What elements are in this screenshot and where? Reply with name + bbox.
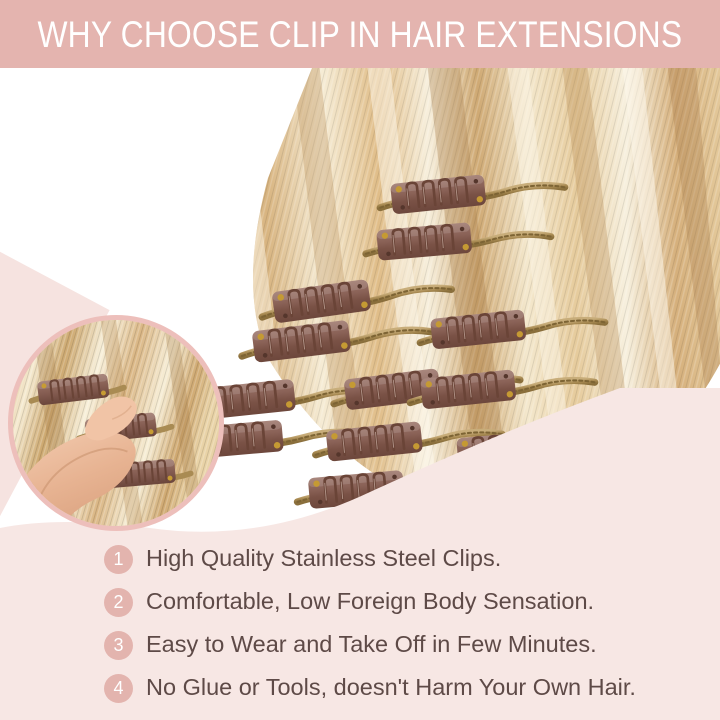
list-item: 3 Easy to Wear and Take Off in Few Minut… bbox=[104, 624, 597, 666]
infographic-canvas: WHY CHOOSE CLIP IN HAIR EXTENSIONS 1 Hig… bbox=[0, 0, 720, 720]
page-title: WHY CHOOSE CLIP IN HAIR EXTENSIONS bbox=[38, 16, 683, 53]
number-badge: 4 bbox=[104, 674, 133, 703]
list-item: 1 High Quality Stainless Steel Clips. bbox=[104, 538, 501, 580]
circle-inset-photo bbox=[8, 315, 224, 531]
feature-text: Comfortable, Low Foreign Body Sensation. bbox=[146, 589, 594, 615]
feature-text: High Quality Stainless Steel Clips. bbox=[146, 546, 501, 572]
feature-list: 1 High Quality Stainless Steel Clips. 2 … bbox=[0, 536, 720, 720]
feature-text: No Glue or Tools, doesn't Harm Your Own … bbox=[146, 675, 636, 701]
feature-text: Easy to Wear and Take Off in Few Minutes… bbox=[146, 632, 597, 658]
list-item: 2 Comfortable, Low Foreign Body Sensatio… bbox=[104, 581, 594, 623]
number-badge: 3 bbox=[104, 631, 133, 660]
number-badge: 1 bbox=[104, 545, 133, 574]
list-item: 4 No Glue or Tools, doesn't Harm Your Ow… bbox=[104, 667, 636, 709]
number-badge: 2 bbox=[104, 588, 133, 617]
header-banner: WHY CHOOSE CLIP IN HAIR EXTENSIONS bbox=[0, 0, 720, 68]
